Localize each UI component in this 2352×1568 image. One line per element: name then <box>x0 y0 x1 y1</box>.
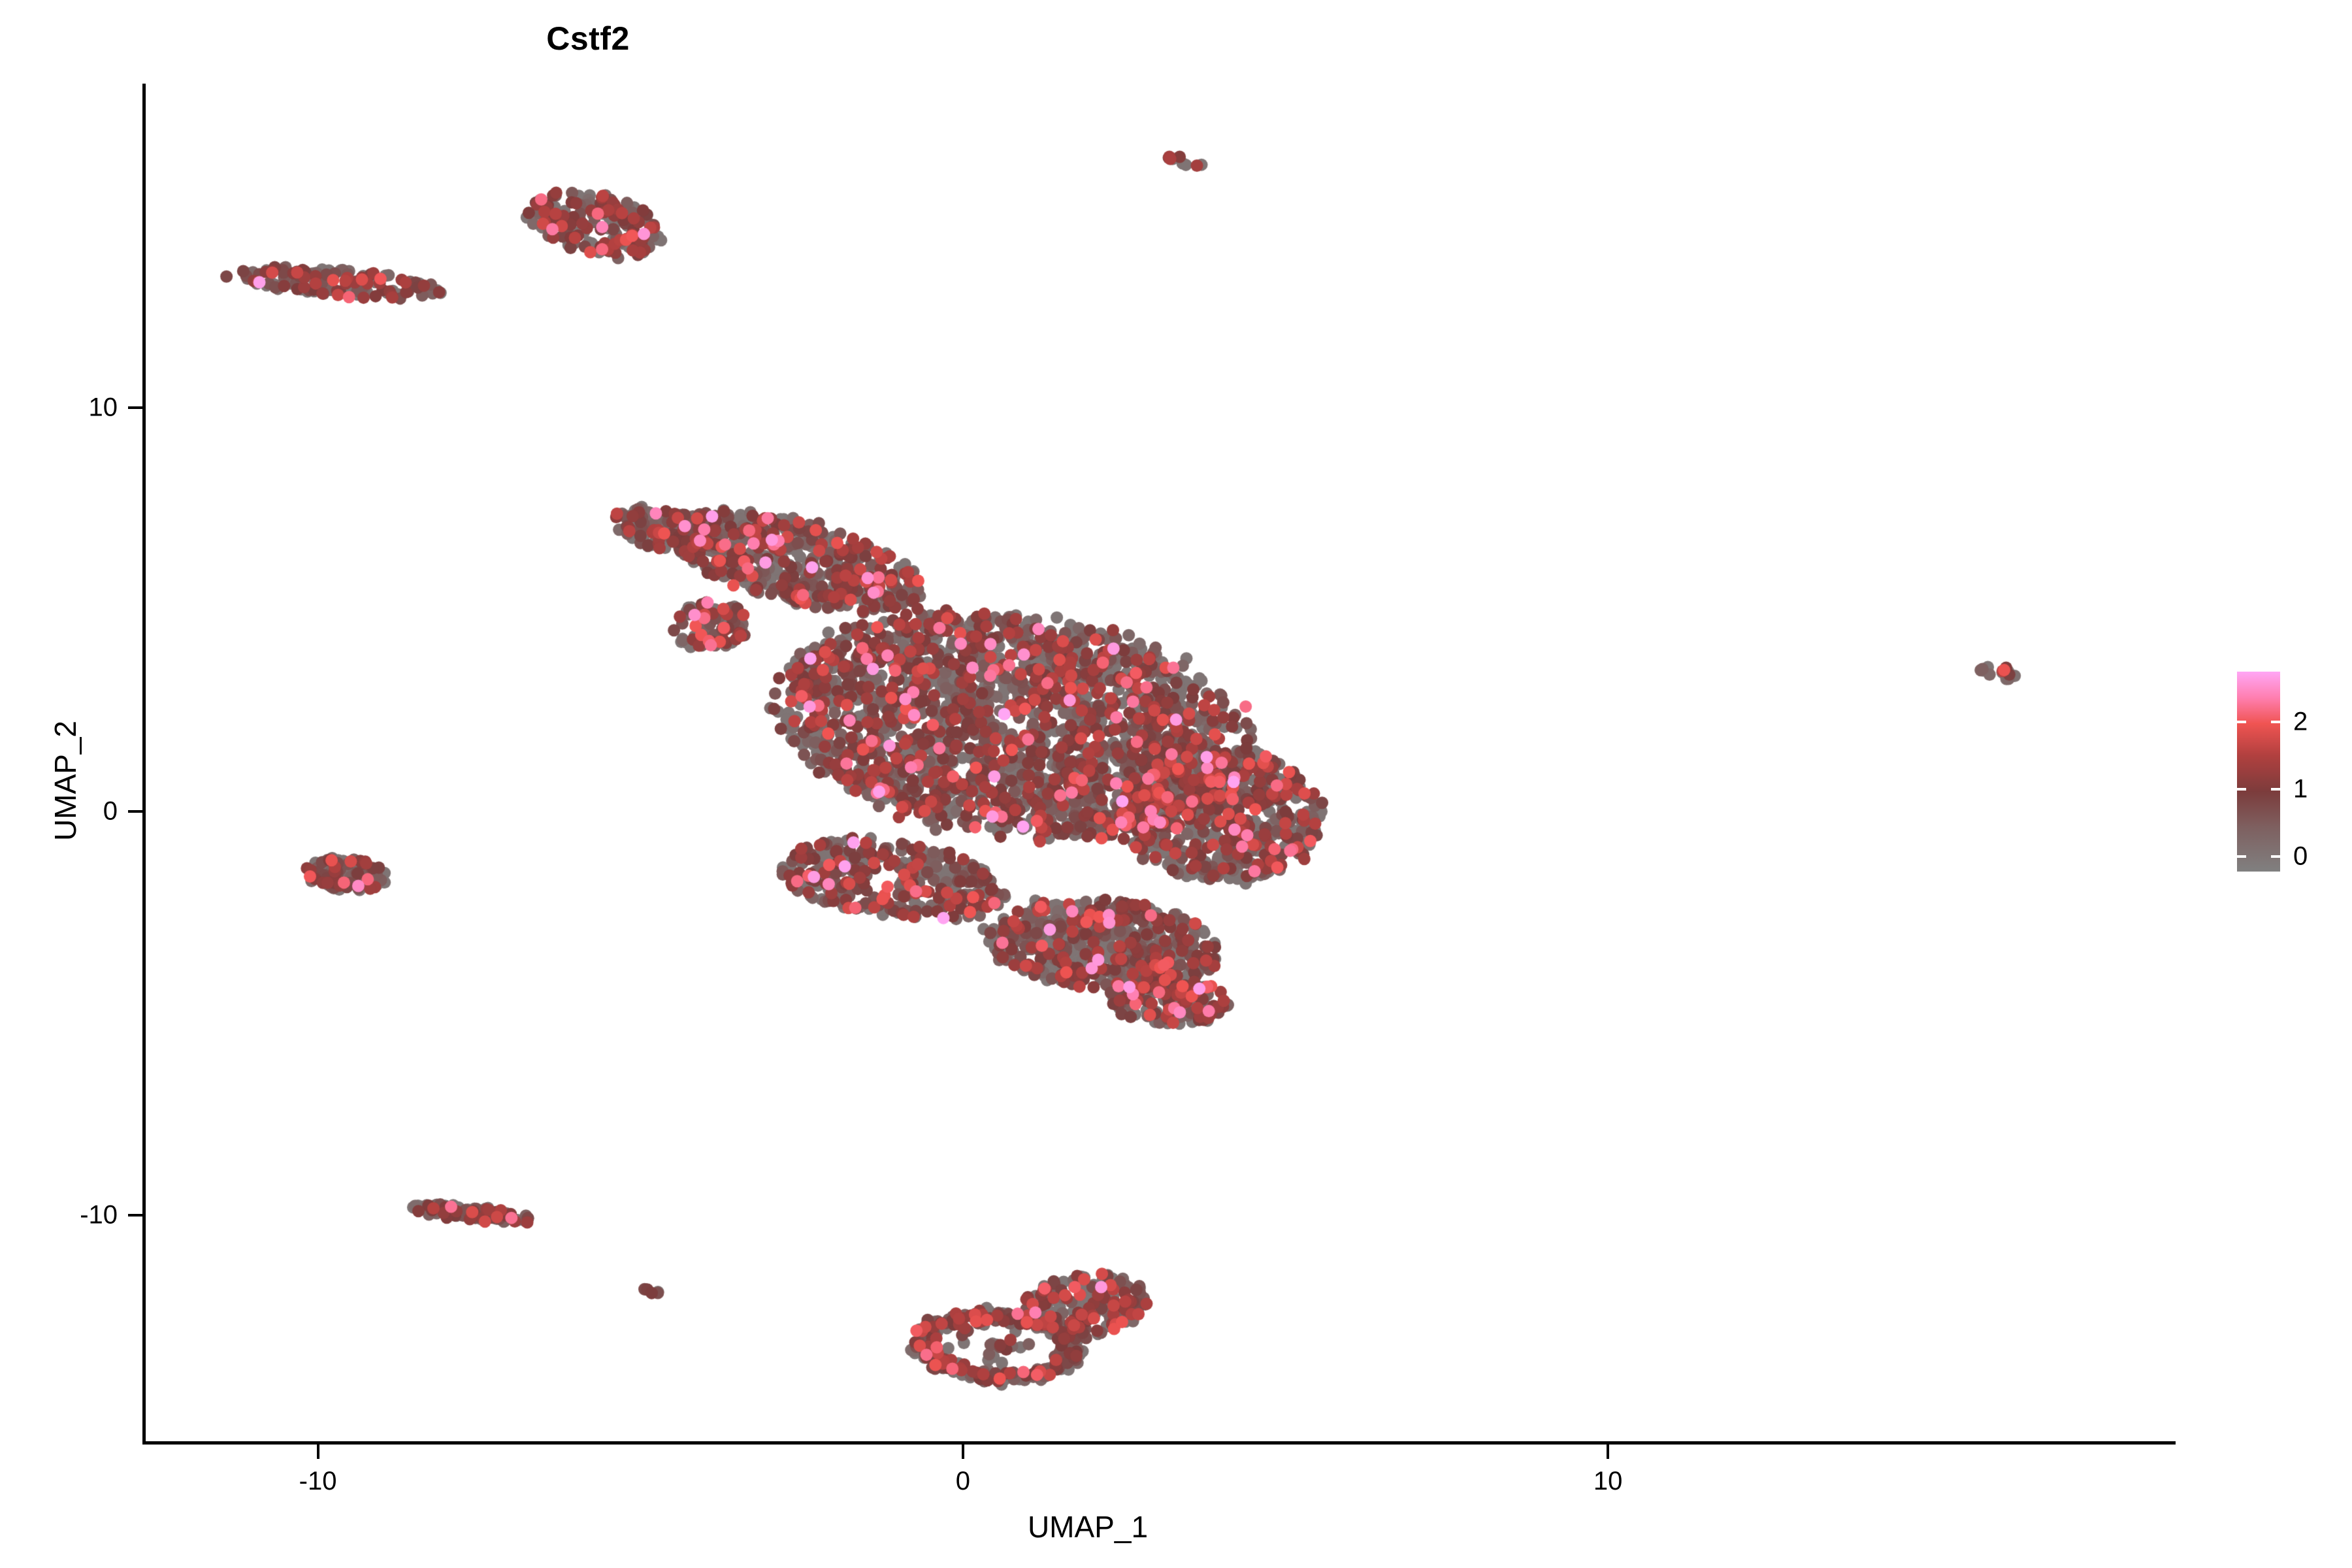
y-tick-mark <box>128 1214 142 1217</box>
y-tick-mark <box>128 810 142 813</box>
page-title: Cstf2 <box>0 20 2352 57</box>
expression-colorbar: 012 <box>2237 672 2283 872</box>
scatter-panel <box>144 85 2176 1441</box>
x-tick-label: -10 <box>253 1467 384 1496</box>
x-tick-mark <box>317 1445 319 1459</box>
x-tick-mark <box>1607 1445 1609 1459</box>
colorbar-tick-mark <box>2237 855 2246 858</box>
x-axis-title: UMAP_1 <box>0 1509 2176 1544</box>
colorbar-tick-label: 1 <box>2293 775 2308 804</box>
y-tick-mark <box>128 406 142 409</box>
colorbar-tick-mark <box>2237 721 2246 723</box>
feature-plot: Cstf2 -10010 -10010 UMAP_1 UMAP_2 012 <box>0 0 2352 1568</box>
colorbar-tick-mark <box>2271 721 2280 723</box>
y-axis-title: UMAP_2 <box>48 258 83 1303</box>
colorbar-tick-label: 0 <box>2293 842 2308 872</box>
x-tick-label: 0 <box>898 1467 1028 1496</box>
umap-scatter-points <box>144 85 2176 1441</box>
colorbar-gradient <box>2237 672 2280 872</box>
colorbar-tick-mark <box>2237 788 2246 791</box>
colorbar-tick-label: 2 <box>2293 708 2308 737</box>
plot-title-text: Cstf2 <box>546 20 1806 57</box>
colorbar-tick-mark <box>2271 855 2280 858</box>
x-tick-label: 10 <box>1543 1467 1673 1496</box>
colorbar-tick-mark <box>2271 788 2280 791</box>
x-tick-mark <box>962 1445 964 1459</box>
x-axis-line <box>142 1441 2176 1445</box>
